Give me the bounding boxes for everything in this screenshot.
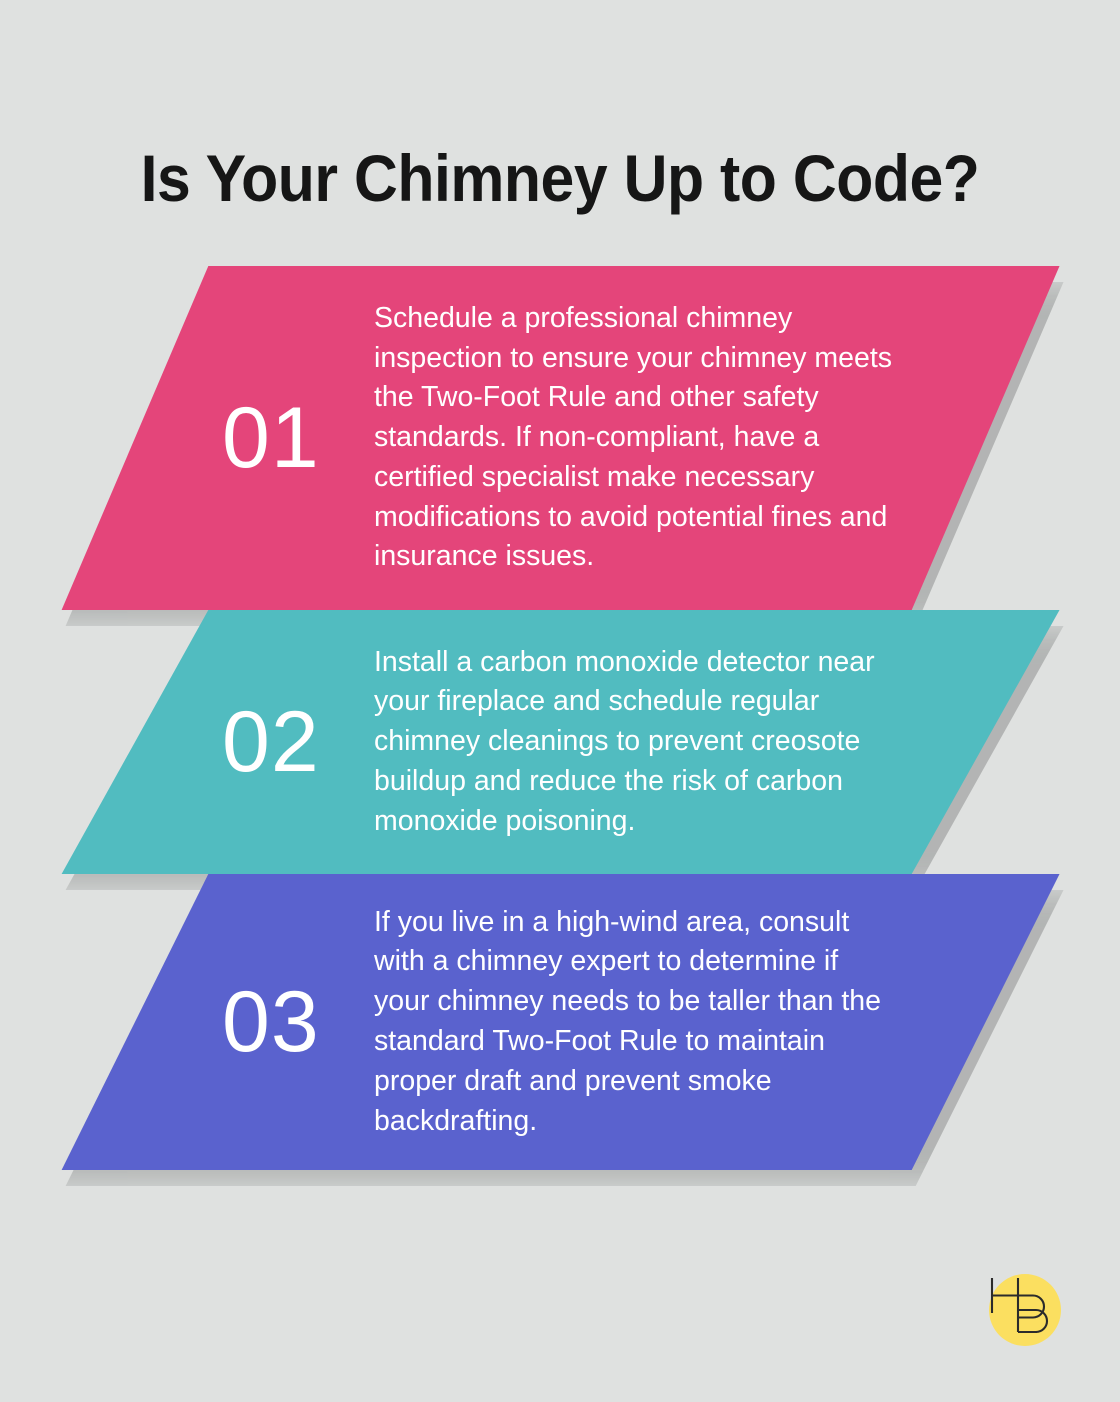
step-item-02: 02 Install a carbon monoxide detector ne…	[0, 610, 1120, 874]
brand-logo	[981, 1266, 1069, 1354]
step-content: 03 If you live in a high-wind area, cons…	[0, 874, 1120, 1170]
steps-list: 01 Schedule a professional chimney inspe…	[0, 0, 1120, 1402]
step-number: 01	[222, 395, 320, 481]
step-item-01: 01 Schedule a professional chimney inspe…	[0, 266, 1120, 610]
step-content: 01 Schedule a professional chimney inspe…	[0, 266, 1120, 610]
hb-monogram-icon	[981, 1266, 1069, 1354]
step-description: Schedule a professional chimney inspecti…	[374, 299, 898, 578]
step-content: 02 Install a carbon monoxide detector ne…	[0, 610, 1120, 874]
step-description: Install a carbon monoxide detector near …	[374, 643, 898, 842]
step-number: 02	[222, 699, 320, 785]
step-number: 03	[222, 979, 320, 1065]
step-item-03: 03 If you live in a high-wind area, cons…	[0, 874, 1120, 1170]
step-description: If you live in a high-wind area, consult…	[374, 903, 898, 1142]
